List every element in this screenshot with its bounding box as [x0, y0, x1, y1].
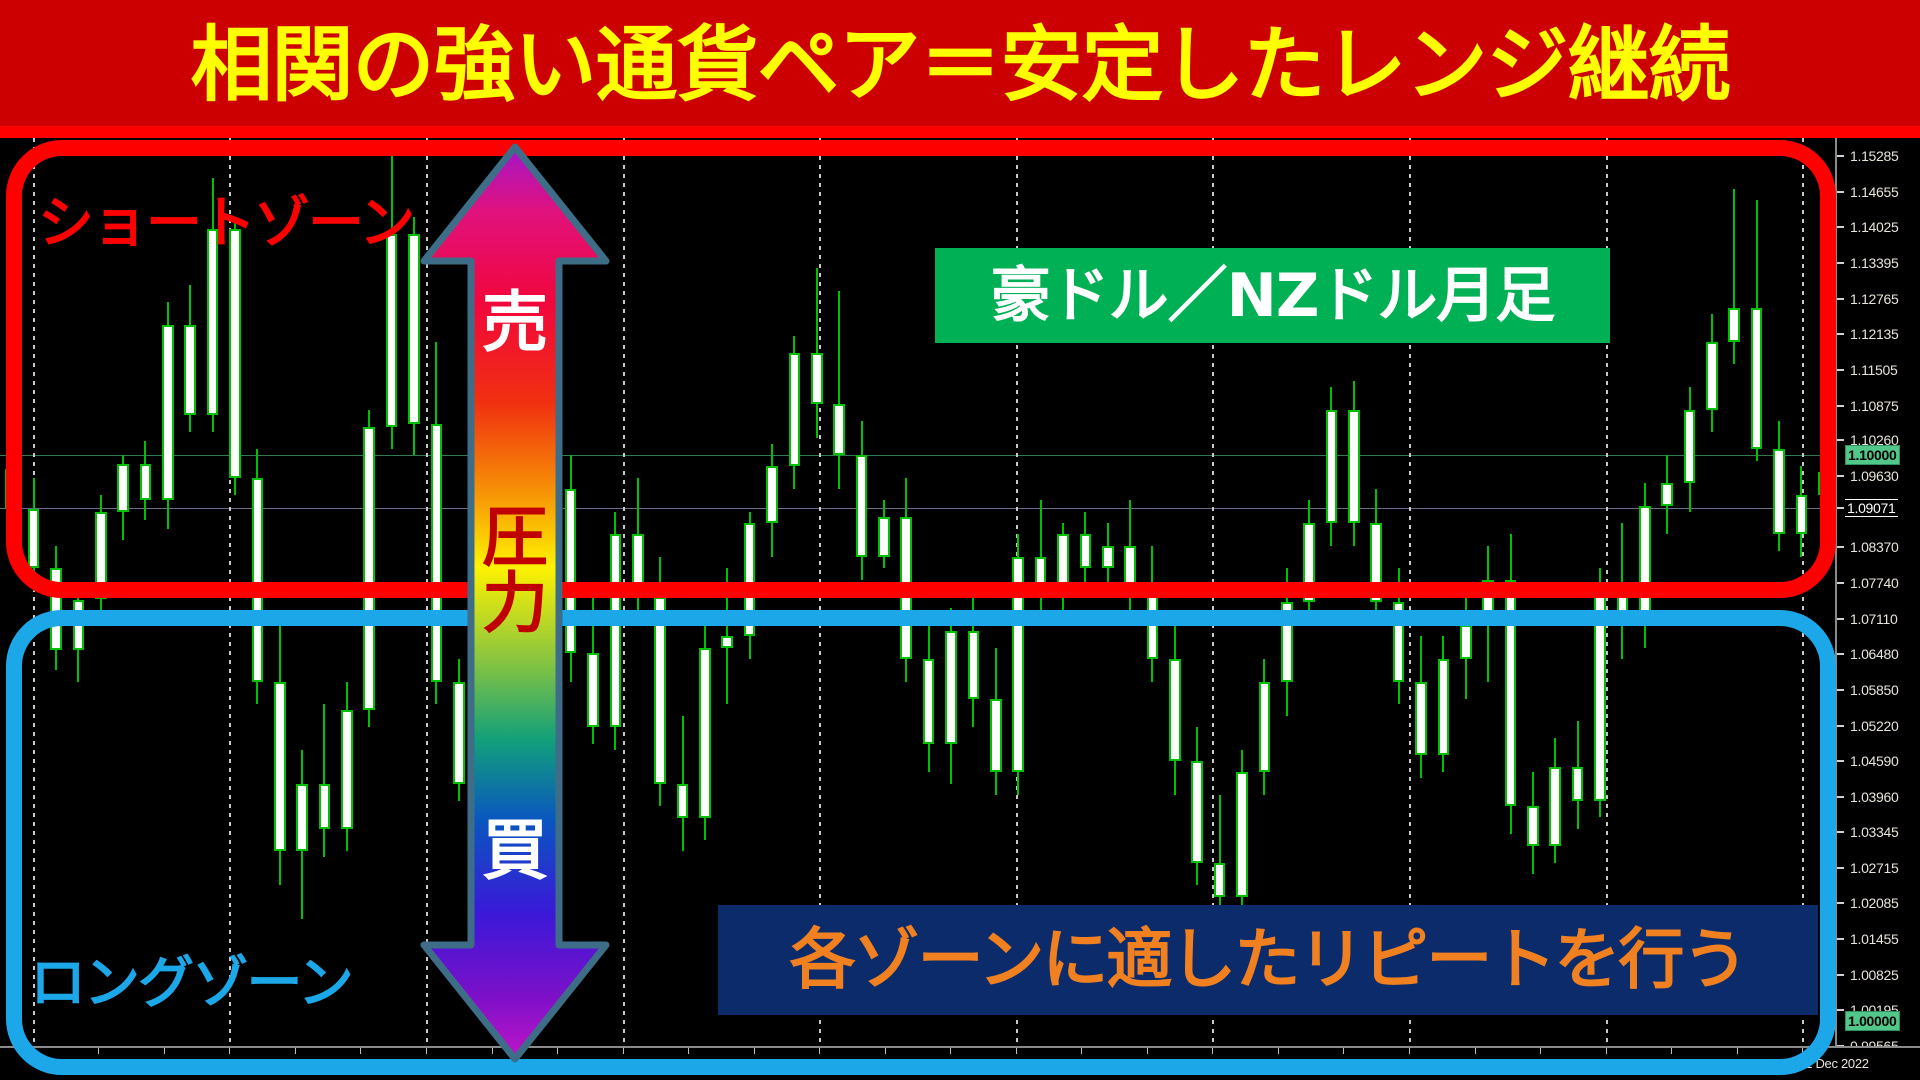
price-tick-mark — [1837, 155, 1844, 157]
candle-body — [1527, 806, 1539, 846]
price-tick-mark — [1837, 760, 1844, 762]
date-tick-label: 1 Dec 2020 — [1412, 1056, 1476, 1071]
time-axis[interactable]: 1 Dec 20131 Apr 20141 Aug 20141 Dec 2014… — [0, 1046, 1920, 1080]
candlestick — [184, 138, 196, 1046]
price-tick-label: 1.11505 — [1850, 362, 1897, 378]
arrow-pressure-char-1: 圧 — [420, 505, 610, 571]
price-tick-mark — [1837, 262, 1844, 264]
price-tick-mark — [1837, 439, 1844, 441]
candlestick — [632, 138, 644, 1046]
price-tick-label: 1.13395 — [1850, 255, 1899, 271]
candle-body — [878, 517, 890, 557]
candle-body — [1639, 506, 1651, 625]
candlestick — [677, 138, 689, 1046]
price-tick-label: 1.15285 — [1850, 148, 1899, 164]
advice-label-box: 各ゾーンに適したリピートを行う — [718, 905, 1818, 1015]
date-tick-mark — [33, 1048, 34, 1054]
date-tick-mark — [360, 1048, 361, 1054]
price-tick-mark — [1837, 831, 1844, 833]
price-tick-mark — [1837, 867, 1844, 869]
long-zone-label: ロングゾーン — [30, 938, 352, 1019]
price-tick-mark — [1837, 582, 1844, 584]
candlestick — [654, 138, 666, 1046]
candle-body — [610, 534, 622, 727]
date-tick-label: 1 Dec 2022 — [1805, 1056, 1869, 1071]
candle-body — [968, 631, 980, 699]
current-price-label: 1.00000 — [1845, 1011, 1900, 1031]
price-tick-label: 1.03345 — [1850, 824, 1899, 840]
date-tick-label: 1 Dec 2017 — [822, 1056, 886, 1071]
candlestick — [699, 138, 711, 1046]
title-banner: 相関の強い通貨ペア＝安定したレンジ継続 — [0, 0, 1920, 132]
date-tick-label: 1 Aug 2020 — [1346, 1056, 1409, 1071]
candlestick — [386, 138, 398, 1046]
candle-body — [1706, 342, 1718, 410]
candle-body — [28, 509, 40, 568]
candle-body — [1214, 863, 1226, 897]
date-tick-label: 1 Dec 2021 — [1609, 1056, 1673, 1071]
price-tick-label: 1.14025 — [1850, 219, 1899, 235]
candle-body — [1796, 495, 1808, 535]
date-tick-mark — [229, 1048, 230, 1054]
candlestick — [5, 138, 17, 1046]
date-tick-label: 1 Dec 2019 — [1215, 1056, 1279, 1071]
candle-body — [1191, 761, 1203, 863]
date-tick-label: 1 Apr 2021 — [1478, 1056, 1538, 1071]
price-tick-mark — [1837, 369, 1844, 371]
price-tick-label: 1.05220 — [1850, 718, 1899, 734]
candle-body — [117, 464, 129, 512]
price-tick-label: 1.08370 — [1850, 539, 1899, 555]
price-tick-label: 1.12765 — [1850, 291, 1899, 307]
candlestick — [274, 138, 286, 1046]
date-tick-label: 1 Aug 2018 — [953, 1056, 1016, 1071]
date-tick-mark — [819, 1048, 820, 1054]
candlestick — [296, 138, 308, 1046]
candlestick — [73, 138, 85, 1046]
date-tick-mark — [1212, 1048, 1213, 1054]
date-tick-mark — [688, 1048, 689, 1054]
date-tick-mark — [1671, 1048, 1672, 1054]
candle-body — [677, 784, 689, 818]
candle-body — [408, 234, 420, 424]
candle-body — [184, 325, 196, 416]
candle-body — [140, 464, 152, 501]
price-tick-mark — [1837, 902, 1844, 904]
date-tick-label: 1 Aug 2021 — [1543, 1056, 1606, 1071]
advice-label-text: 各ゾーンに適したリピートを行う — [790, 927, 1747, 993]
date-tick-label: 1 Apr 2015 — [298, 1056, 358, 1071]
candle-body — [1438, 659, 1450, 755]
candle-body — [274, 682, 286, 852]
price-tick-label: 1.06480 — [1850, 646, 1899, 662]
date-tick-mark — [1409, 1048, 1410, 1054]
date-tick-mark — [1278, 1048, 1279, 1054]
pair-label-text: 豪ドル／NZドル月足 — [991, 266, 1555, 326]
price-tick-label: 1.05850 — [1850, 682, 1899, 698]
price-axis[interactable]: 1.152851.146551.140251.133951.127651.121… — [1835, 138, 1920, 1046]
candle-body — [1505, 580, 1517, 807]
price-tick-label: 1.00825 — [1850, 967, 1899, 983]
candle-body — [229, 229, 241, 478]
price-tick-label: 1.07740 — [1850, 575, 1899, 591]
candle-body — [1348, 410, 1360, 523]
candle-body — [1102, 546, 1114, 569]
date-tick-label: 1 Apr 2014 — [101, 1056, 161, 1071]
date-tick-label: 1 Apr 2018 — [888, 1056, 948, 1071]
candle-body — [923, 659, 935, 744]
date-tick-label: 1 Dec 2018 — [1019, 1056, 1083, 1071]
date-tick-mark — [1606, 1048, 1607, 1054]
candlestick — [95, 138, 107, 1046]
date-tick-mark — [164, 1048, 165, 1054]
price-tick-mark — [1837, 653, 1844, 655]
date-tick-label: 1 Apr 2019 — [1084, 1056, 1144, 1071]
title-underline — [0, 126, 1920, 138]
date-tick-label: 1 Dec 2013 — [36, 1056, 100, 1071]
candlestick — [363, 138, 375, 1046]
price-tick-label: 1.14655 — [1850, 184, 1899, 200]
date-tick-mark — [1802, 1048, 1803, 1054]
candlestick — [162, 138, 174, 1046]
price-tick-label: 1.03960 — [1850, 789, 1899, 805]
candle-body — [252, 478, 264, 682]
arrow-sell-label: 売 — [420, 290, 610, 356]
candle-body — [95, 512, 107, 600]
candle-wick — [838, 291, 840, 489]
candle-body — [363, 427, 375, 710]
candlestick — [117, 138, 129, 1046]
candle-body — [1326, 410, 1338, 523]
candle-body — [833, 404, 845, 455]
candle-body — [990, 699, 1002, 773]
arrow-buy-label: 買 — [420, 818, 610, 884]
candle-body — [1415, 682, 1427, 756]
price-tick-label: 1.10875 — [1850, 398, 1899, 414]
price-tick-label: 1.04590 — [1850, 753, 1899, 769]
short-zone-label: ショートゾーン — [38, 178, 413, 259]
candlestick — [207, 138, 219, 1046]
candle-body — [1169, 659, 1181, 761]
date-tick-mark — [1081, 1048, 1082, 1054]
candle-body — [1370, 523, 1382, 602]
date-tick-mark — [1540, 1048, 1541, 1054]
date-tick-mark — [754, 1048, 755, 1054]
date-tick-label: 3 Aug 2015 — [363, 1056, 426, 1071]
price-tick-mark — [1837, 618, 1844, 620]
date-tick-label: 1 Aug 2022 — [1740, 1056, 1803, 1071]
price-tick-mark — [1837, 974, 1844, 976]
date-tick-label: 1 Aug 2014 — [167, 1056, 230, 1071]
price-tick-label: 1.09630 — [1850, 468, 1899, 484]
date-tick-label: 1 Apr 2020 — [1281, 1056, 1341, 1071]
price-tick-label: 1.01455 — [1850, 931, 1899, 947]
candlestick — [229, 138, 241, 1046]
date-tick-label: 1 Apr 2022 — [1674, 1056, 1734, 1071]
candle-body — [1751, 308, 1763, 450]
date-tick-mark — [885, 1048, 886, 1054]
price-tick-mark — [1837, 226, 1844, 228]
candle-body — [1281, 602, 1293, 681]
candle-body — [5, 469, 17, 509]
candle-body — [1035, 557, 1047, 591]
candle-wick — [323, 704, 325, 857]
candle-body — [296, 784, 308, 852]
date-tick-mark — [1343, 1048, 1344, 1054]
candlestick — [341, 138, 353, 1046]
price-tick-label: 1.12135 — [1850, 326, 1899, 342]
candle-body — [1124, 546, 1136, 591]
price-tick-mark — [1837, 725, 1844, 727]
candle-body — [789, 353, 801, 466]
price-tick-mark — [1837, 938, 1844, 940]
arrow-pressure-label: 圧 力 — [420, 505, 610, 637]
arrow-pressure-char-2: 力 — [420, 571, 610, 637]
candle-body — [945, 631, 957, 744]
candlestick — [610, 138, 622, 1046]
candle-body — [1572, 767, 1584, 801]
price-tick-mark — [1837, 333, 1844, 335]
price-tick-label: 1.02715 — [1850, 860, 1899, 876]
candle-body — [811, 353, 823, 404]
price-tick-mark — [1837, 298, 1844, 300]
candle-body — [699, 648, 711, 818]
candle-body — [341, 710, 353, 829]
date-tick-mark — [1016, 1048, 1017, 1054]
candle-body — [1259, 682, 1271, 773]
price-tick-mark — [1837, 689, 1844, 691]
price-tick-label: 1.09071 — [1845, 499, 1898, 517]
date-tick-mark — [1737, 1048, 1738, 1054]
date-tick-mark — [1475, 1048, 1476, 1054]
candle-body — [162, 325, 174, 501]
candle-body — [1482, 580, 1494, 625]
candle-body — [319, 784, 331, 829]
price-tick-mark — [1837, 1009, 1844, 1011]
price-tick-label: 1.07110 — [1850, 611, 1897, 627]
candle-body — [1617, 591, 1629, 625]
candlestick — [408, 138, 420, 1046]
date-tick-mark — [295, 1048, 296, 1054]
candle-body — [50, 568, 62, 650]
date-tick-mark — [623, 1048, 624, 1054]
candle-body — [1057, 534, 1069, 591]
candle-body — [1147, 591, 1159, 659]
title-text: 相関の強い通貨ペア＝安定したレンジ継続 — [190, 25, 1729, 107]
candle-body — [654, 597, 666, 784]
candlestick — [28, 138, 40, 1046]
date-tick-label: 1 Aug 2019 — [1150, 1056, 1213, 1071]
date-tick-label: 1 Dec 2016 — [626, 1056, 690, 1071]
pair-label-box: 豪ドル／NZドル月足 — [935, 248, 1610, 343]
candle-body — [1818, 472, 1830, 495]
price-tick-mark — [1837, 507, 1844, 509]
candlestick — [319, 138, 331, 1046]
candle-body — [1684, 410, 1696, 484]
candle-body — [1594, 591, 1606, 801]
date-tick-mark — [98, 1048, 99, 1054]
price-tick-mark — [1837, 475, 1844, 477]
candle-body — [744, 523, 756, 636]
date-tick-label: 1 Apr 2017 — [691, 1056, 751, 1071]
candle-body — [632, 534, 644, 596]
candle-body — [1236, 772, 1248, 897]
candle-body — [1773, 449, 1785, 534]
date-tick-mark — [950, 1048, 951, 1054]
candle-body — [73, 600, 85, 651]
candlestick — [140, 138, 152, 1046]
candlestick — [1818, 138, 1830, 1046]
date-tick-label: 1 Dec 2014 — [232, 1056, 296, 1071]
date-tick-mark — [1147, 1048, 1148, 1054]
candle-body — [1661, 483, 1673, 506]
date-tick-label: 1 Aug 2017 — [757, 1056, 820, 1071]
candle-body — [386, 234, 398, 427]
candle-body — [1080, 534, 1092, 568]
price-tick-mark — [1837, 405, 1844, 407]
price-tick-label: 1.02085 — [1850, 895, 1899, 911]
candle-body — [900, 517, 912, 659]
candle-body — [1460, 625, 1472, 659]
candle-body — [1549, 767, 1561, 846]
candle-body — [856, 455, 868, 557]
candle-body — [1012, 557, 1024, 772]
candlestick — [50, 138, 62, 1046]
chart-screenshot: 相関の強い通貨ペア＝安定したレンジ継続 1.152851.146551.1402… — [0, 0, 1920, 1080]
price-tick-mark — [1837, 546, 1844, 548]
price-tick-mark — [1837, 796, 1844, 798]
candle-body — [766, 466, 778, 523]
candle-body — [1303, 523, 1315, 602]
candle-body — [721, 636, 733, 647]
vertical-gridline — [623, 138, 625, 1046]
price-tick-mark — [1837, 191, 1844, 193]
candle-body — [1728, 308, 1740, 342]
current-price-label: 1.10000 — [1845, 445, 1900, 465]
candle-body — [1393, 602, 1405, 681]
candlestick — [252, 138, 264, 1046]
